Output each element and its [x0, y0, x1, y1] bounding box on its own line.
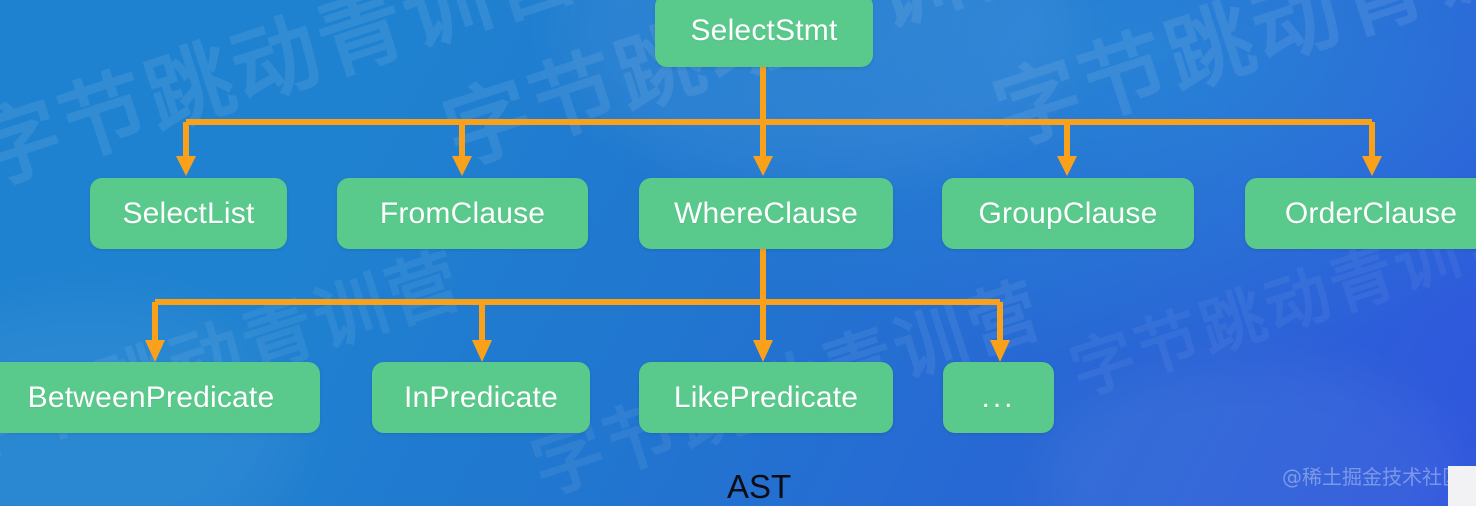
- site-watermark: @稀土掘金技术社区: [1282, 461, 1462, 490]
- node-whereclause[interactable]: WhereClause: [639, 178, 893, 249]
- node-label: OrderClause: [1285, 197, 1457, 231]
- node-label: GroupClause: [979, 197, 1158, 231]
- watermark-tile: 字节跳动青训营: [0, 220, 475, 484]
- ast-diagram-canvas: 字节跳动青训营 字节跳动青训营 字节跳动青训营 字节跳动青训营 字节跳动青训营 …: [0, 0, 1476, 506]
- arrowhead-selectlist: [176, 156, 196, 176]
- node-inpredicate[interactable]: InPredicate: [372, 362, 590, 433]
- node-orderclause[interactable]: OrderClause: [1245, 178, 1476, 249]
- node-label: ...: [981, 381, 1015, 415]
- node-label: FromClause: [380, 197, 545, 231]
- corner-artifact: [1448, 466, 1476, 506]
- arrowhead-fromclause: [452, 156, 472, 176]
- node-betweenpredicate[interactable]: BetweenPredicate: [0, 362, 320, 433]
- arrowhead-betweenpredicate: [145, 340, 165, 362]
- node-fromclause[interactable]: FromClause: [337, 178, 588, 249]
- node-label: InPredicate: [404, 381, 558, 415]
- node-selectlist[interactable]: SelectList: [90, 178, 287, 249]
- node-likepredicate[interactable]: LikePredicate: [639, 362, 893, 433]
- watermark-tile: 字节跳动青训营: [976, 0, 1476, 169]
- node-label: BetweenPredicate: [28, 381, 275, 415]
- arrowhead-ellipsis: [990, 340, 1010, 362]
- arrowhead-groupclause: [1057, 156, 1077, 176]
- node-ellipsis[interactable]: ...: [943, 362, 1054, 433]
- node-label: SelectStmt: [690, 14, 837, 48]
- arrowhead-orderclause: [1362, 156, 1382, 176]
- diagram-caption: AST: [727, 468, 791, 506]
- node-label: SelectList: [122, 197, 254, 231]
- node-selectstmt[interactable]: SelectStmt: [655, 0, 873, 67]
- node-groupclause[interactable]: GroupClause: [942, 178, 1194, 249]
- arrowhead-inpredicate: [472, 340, 492, 362]
- arrowhead-likepredicate: [753, 340, 773, 362]
- node-label: WhereClause: [674, 197, 858, 231]
- node-label: LikePredicate: [674, 381, 858, 415]
- arrowhead-whereclause: [753, 156, 773, 176]
